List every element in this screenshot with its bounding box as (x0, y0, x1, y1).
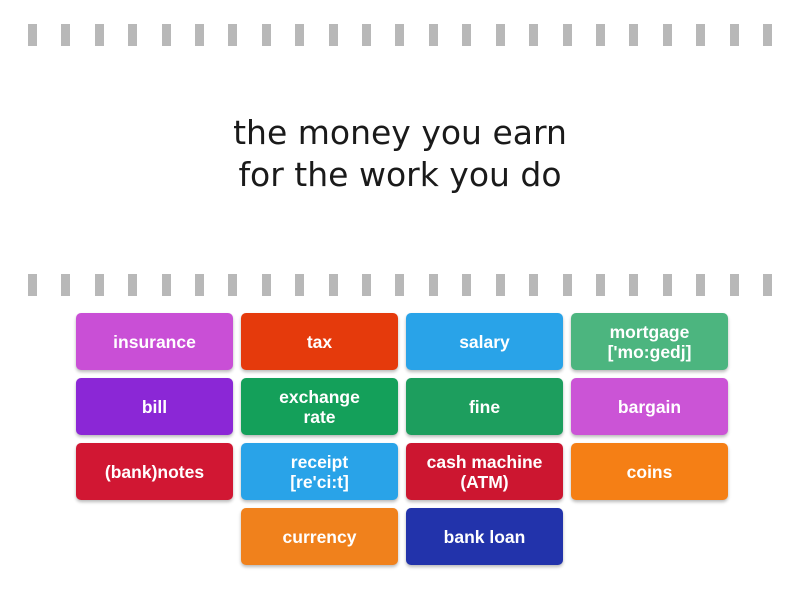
dash-mark (329, 274, 338, 296)
answer-tile[interactable]: receipt [re'ci:t] (241, 443, 398, 500)
dash-mark (295, 24, 304, 46)
dash-mark (262, 24, 271, 46)
dash-mark (195, 274, 204, 296)
dash-mark (128, 274, 137, 296)
dash-mark (162, 24, 171, 46)
dash-mark (95, 24, 104, 46)
dash-mark (462, 274, 471, 296)
answer-tile[interactable]: bill (76, 378, 233, 435)
answer-tile-board: insurance tax salary mortgage ['mo:gedj]… (76, 313, 724, 573)
dash-mark (61, 24, 70, 46)
answer-tile[interactable]: coins (571, 443, 728, 500)
dash-mark (696, 24, 705, 46)
dash-mark (429, 274, 438, 296)
dash-mark (228, 274, 237, 296)
dash-mark (763, 24, 772, 46)
dash-mark (61, 274, 70, 296)
dash-mark (763, 274, 772, 296)
prompt-text: the money you earn for the work you do (0, 112, 800, 196)
dash-mark (629, 274, 638, 296)
answer-tile[interactable]: exchange rate (241, 378, 398, 435)
dash-mark (496, 24, 505, 46)
answer-tile[interactable]: currency (241, 508, 398, 565)
dash-mark (295, 274, 304, 296)
dash-mark (28, 274, 37, 296)
tile-row: insurance tax salary mortgage ['mo:gedj] (76, 313, 724, 370)
dash-mark (663, 274, 672, 296)
answer-tile[interactable]: mortgage ['mo:gedj] (571, 313, 728, 370)
answer-tile[interactable]: (bank)notes (76, 443, 233, 500)
dash-mark (563, 24, 572, 46)
answer-tile[interactable]: bargain (571, 378, 728, 435)
dash-mark (195, 24, 204, 46)
dash-mark (462, 24, 471, 46)
dash-mark (629, 24, 638, 46)
answer-tile[interactable]: salary (406, 313, 563, 370)
dash-mark (162, 274, 171, 296)
answer-tile[interactable]: cash machine (ATM) (406, 443, 563, 500)
dash-mark (395, 24, 404, 46)
dash-mark (95, 274, 104, 296)
dash-mark (329, 24, 338, 46)
answer-tile[interactable]: fine (406, 378, 563, 435)
dash-mark (362, 274, 371, 296)
dash-mark (663, 24, 672, 46)
dash-mark (529, 24, 538, 46)
dash-mark (262, 274, 271, 296)
dashed-divider-middle (0, 274, 800, 296)
dash-mark (228, 24, 237, 46)
dash-mark (395, 274, 404, 296)
tile-row: currency bank loan (241, 508, 724, 565)
answer-tile[interactable]: bank loan (406, 508, 563, 565)
answer-tile[interactable]: insurance (76, 313, 233, 370)
tile-row: bill exchange rate fine bargain (76, 378, 724, 435)
dash-mark (529, 274, 538, 296)
tile-row: (bank)notes receipt [re'ci:t] cash machi… (76, 443, 724, 500)
dash-mark (362, 24, 371, 46)
dash-mark (730, 24, 739, 46)
dash-mark (596, 274, 605, 296)
dash-mark (128, 24, 137, 46)
dash-mark (730, 274, 739, 296)
dash-mark (596, 24, 605, 46)
dash-mark (28, 24, 37, 46)
answer-tile[interactable]: tax (241, 313, 398, 370)
dash-mark (563, 274, 572, 296)
dash-mark (696, 274, 705, 296)
dash-mark (496, 274, 505, 296)
dashed-divider-top (0, 24, 800, 46)
dash-mark (429, 24, 438, 46)
